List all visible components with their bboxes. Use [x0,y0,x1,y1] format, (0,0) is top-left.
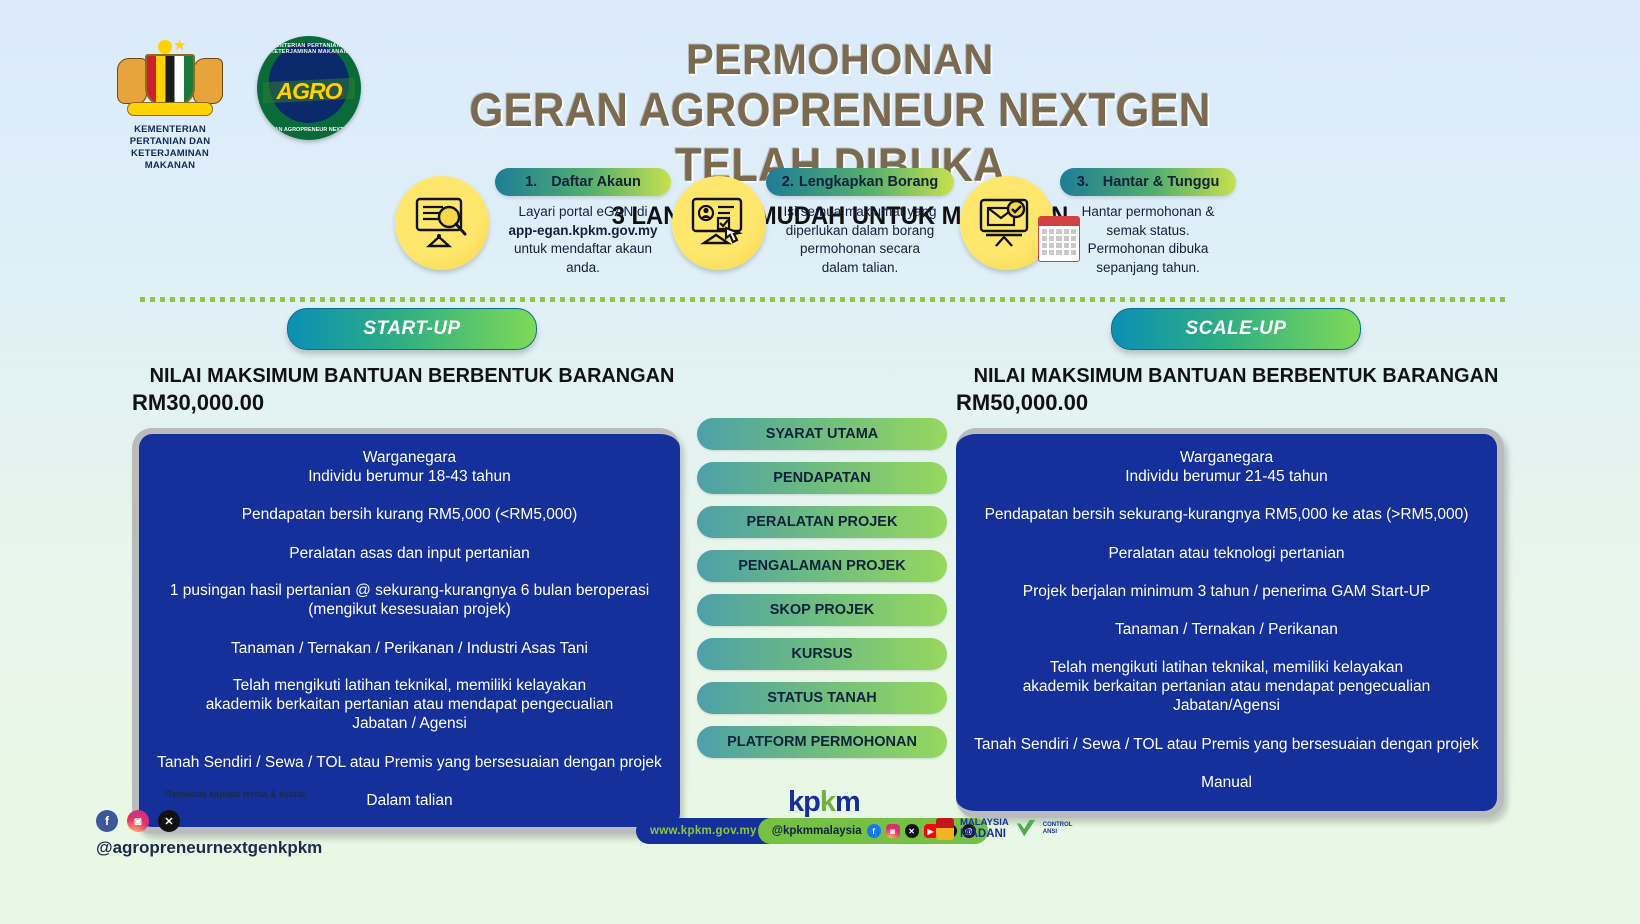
scaleup-item-6: Tanah Sendiri / Sewa / TOL atau Premis y… [962,735,1491,754]
step-1-desc-line3: untuk mendaftar akaun [483,240,683,259]
step-2-desc-line1: Isi semua maklumat yang [760,203,960,222]
criteria-item-syarat-utama[interactable]: SYARAT UTAMA [697,418,947,450]
step-1-desc-line1: Layari portal eGAN di [483,203,683,222]
step-2-number: 2. [782,174,794,190]
startup-item-3: 1 pusingan hasil pertanian @ sekurang-ku… [145,582,674,620]
step-1-body: 1.Daftar Akaun Layari portal eGAN di app… [483,168,683,278]
scaleup-badge[interactable]: SCALE-UP [1111,308,1361,350]
form-click-icon [672,176,766,270]
startup-item-1: Pendapatan bersih kurang RM5,000 (<RM5,0… [145,505,674,524]
cert-line2: ANSI [1043,829,1073,836]
step-1-number: 1. [525,174,537,190]
startup-item-5: Telah mengikuti latihan teknikal, memili… [145,677,674,734]
scaleup-heading: NILAI MAKSIMUM BANTUAN BERBENTUK BARANGA… [964,364,1507,388]
cert-line1: CONTROL [1043,822,1073,829]
ministry-logo: ★ KEMENTERIAN PERTANIAN DAN KETERJAMINAN… [105,36,235,172]
scaleup-item-2: Peralatan atau teknologi pertanian [962,544,1491,563]
malaysia-madani-badge: MALAYSIA MADANI CONTROL ANSI [936,818,1072,840]
agro-logo-ring-bottom: GERAN AGROPRENEUR NEXTGEN [257,127,361,133]
social-handle-left: @agropreneurnextgenkpkm [96,838,322,858]
startup-item-0: Warganegara Individu berumur 18-43 tahun [145,448,674,487]
step-3-body: 3.Hantar & Tunggu Hantar permohonan & se… [1048,168,1248,278]
criteria-item-platform-permohonan[interactable]: PLATFORM PERMOHONAN [697,726,947,758]
criteria-item-status-tanah[interactable]: STATUS TANAH [697,682,947,714]
step-3-desc-line2: semak status. [1048,222,1248,241]
startup-amount: RM30,000.00 [132,390,692,416]
step-3-number: 3. [1077,174,1089,190]
social-handle-text: @kpkmmalaysia [772,825,862,837]
footer-contact-bar: www.kpkm.gov.my @kpkmmalaysia f ◙ ✕ ▶ ♪ … [636,818,988,844]
agro-logo-word: AGRO [257,78,361,105]
step-2-pill[interactable]: 2.Lengkapkan Borang [766,168,954,196]
x-twitter-icon[interactable]: ✕ [158,810,180,832]
scaleup-item-5: Telah mengikuti latihan teknikal, memili… [962,659,1491,716]
kpkm-logo-m: m [835,786,860,818]
step-1-label: Daftar Akaun [551,174,641,190]
step-2-description: Isi semua maklumat yang diperlukan dalam… [760,203,960,278]
cert-text: CONTROL ANSI [1043,822,1073,835]
step-1-portal-url[interactable]: app-egan.kpkm.gov.my [508,223,657,238]
green-check-icon [1015,818,1037,840]
madani-line1: MALAYSIA [960,818,1009,828]
step-2: 2.Lengkapkan Borang Isi semua maklumat y… [672,168,962,286]
instagram-mini-icon[interactable]: ◙ [886,824,900,838]
scaleup-item-7: Manual [962,773,1491,792]
social-links-left: f ◙ ✕ @agropreneurnextgenkpkm [96,810,322,858]
madani-text: MALAYSIA MADANI [960,818,1009,840]
scaleup-item-3: Projek berjalan minimum 3 tahun / peneri… [962,582,1491,601]
scaleup-item-4: Tanaman / Ternakan / Perikanan [962,620,1491,639]
criteria-item-skop-projek[interactable]: SKOP PROJEK [697,594,947,626]
step-1-description: Layari portal eGAN di app-egan.kpkm.gov.… [483,203,683,278]
malaysia-coat-of-arms-icon: ★ [111,36,229,120]
criteria-item-pengalaman-projek[interactable]: PENGALAMAN PROJEK [697,550,947,582]
step-2-body: 2.Lengkapkan Borang Isi semua maklumat y… [760,168,960,278]
criteria-item-pendapatan[interactable]: PENDAPATAN [697,462,947,494]
step-2-desc-line3: permohonan secara [760,240,960,259]
startup-item-4: Tanaman / Ternakan / Perikanan / Industr… [145,639,674,658]
criteria-item-peralatan-projek[interactable]: PERALATAN PROJEK [697,506,947,538]
step-3-desc-line1: Hantar permohonan & [1048,203,1248,222]
kpkm-logo-p: p [803,786,820,818]
madani-line2: MADANI [960,828,1009,840]
startup-badge[interactable]: START-UP [287,308,537,350]
kpkm-logo-k1: k [788,786,803,818]
madani-emblem-icon [936,818,954,840]
step-2-desc-line4: dalam talian. [760,259,960,278]
startup-column: START-UP NILAI MAKSIMUM BANTUAN BERBENTU… [132,308,692,834]
criteria-item-kursus[interactable]: KURSUS [697,638,947,670]
footnote: *Tertakluk kepada terma & syarat [164,789,305,799]
facebook-mini-icon[interactable]: f [867,824,881,838]
scaleup-panel: Warganegara Individu berumur 21-45 tahun… [956,428,1504,818]
kpkm-logo: kpkm [788,786,860,819]
website-url[interactable]: www.kpkm.gov.my [636,818,771,844]
scaleup-item-1: Pendapatan bersih sekurang-kurangnya RM5… [962,505,1491,524]
scaleup-item-0: Warganegara Individu berumur 21-45 tahun [962,448,1491,487]
criteria-list: SYARAT UTAMA PENDAPATAN PERALATAN PROJEK… [697,418,947,770]
instagram-icon[interactable]: ◙ [127,810,149,832]
step-3-label: Hantar & Tunggu [1103,174,1220,190]
step-1-pill[interactable]: 1.Daftar Akaun [495,168,671,196]
step-1-desc-line4: anda. [483,259,683,278]
step-2-label: Lengkapkan Borang [799,174,938,190]
step-1: 1.Daftar Akaun Layari portal eGAN di app… [395,168,685,286]
step-3-desc-line4: sepanjang tahun. [1048,259,1248,278]
step-3: 3.Hantar & Tunggu Hantar permohonan & se… [960,168,1250,286]
startup-item-2: Peralatan asas dan input pertanian [145,544,674,563]
monitor-search-icon [395,176,489,270]
startup-panel: Warganegara Individu berumur 18-43 tahun… [132,428,680,834]
agro-logo: KEMENTERIAN PERTANIAN DAN KETERJAMINAN M… [257,36,361,140]
startup-heading: NILAI MAKSIMUM BANTUAN BERBENTUK BARANGA… [140,364,683,388]
scaleup-amount: RM50,000.00 [956,390,1516,416]
startup-item-6: Tanah Sendiri / Sewa / TOL atau Premis y… [145,753,674,772]
page-title-line1: PERMOHONAN [398,36,1281,85]
facebook-icon[interactable]: f [96,810,118,832]
kpkm-logo-k2: k [820,786,835,818]
step-3-pill[interactable]: 3.Hantar & Tunggu [1060,168,1236,196]
step-3-description: Hantar permohonan & semak status. Permoh… [1048,203,1248,278]
page-header: ★ KEMENTERIAN PERTANIAN DAN KETERJAMINAN… [0,0,1640,180]
steps-section: 1.Daftar Akaun Layari portal eGAN di app… [395,168,1275,288]
x-twitter-mini-icon[interactable]: ✕ [905,824,919,838]
dotted-divider [140,297,1505,302]
step-3-desc-line3: Permohonan dibuka [1048,240,1248,259]
ministry-logo-caption: KEMENTERIAN PERTANIAN DAN KETERJAMINAN M… [105,124,235,172]
logo-group: ★ KEMENTERIAN PERTANIAN DAN KETERJAMINAN… [105,36,361,172]
step-2-desc-line2: diperlukan dalam borang [760,222,960,241]
scaleup-column: SCALE-UP NILAI MAKSIMUM BANTUAN BERBENTU… [956,308,1516,818]
